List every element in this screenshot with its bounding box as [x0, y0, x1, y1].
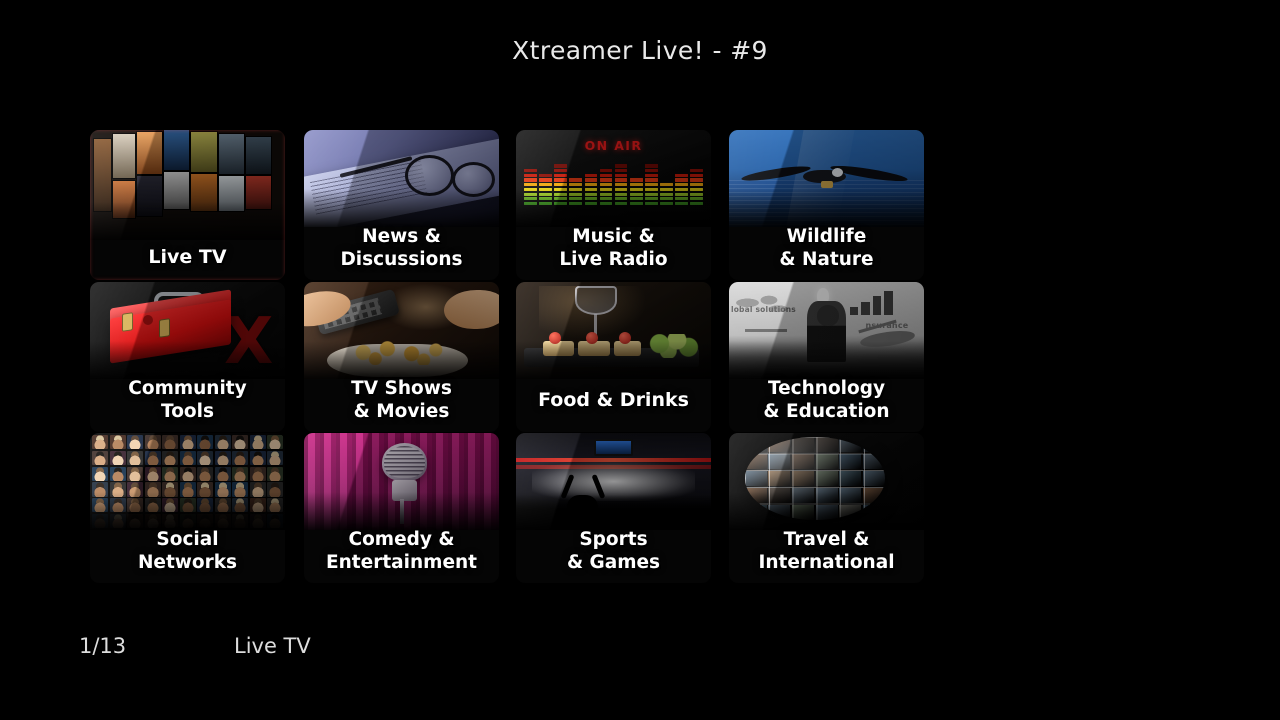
- tile-label: Technology& Education: [729, 370, 924, 432]
- tile-news[interactable]: News &Discussions: [304, 130, 499, 280]
- page-title: Xtreamer Live! - #9: [512, 36, 768, 65]
- globe-graphic: [745, 437, 885, 520]
- tile-art-stadium-crowd: [516, 433, 711, 530]
- tile-art-newspaper-glasses: [304, 130, 499, 227]
- tile-sports[interactable]: Sports& Games: [516, 433, 711, 583]
- tile-art-canapes-wine: [516, 282, 711, 379]
- tile-comedy[interactable]: Comedy &Entertainment: [304, 433, 499, 583]
- avatar-grid: [90, 433, 285, 530]
- tile-food[interactable]: Food & Drinks: [516, 282, 711, 432]
- tile-label: CommunityTools: [90, 370, 285, 432]
- channel-grid: Live TV News &Discussions: [90, 130, 1090, 592]
- tile-art-microphone-curtain: [304, 433, 499, 530]
- status-page-index: 1/13: [79, 634, 126, 658]
- tile-label: Sports& Games: [516, 521, 711, 583]
- equalizer-graphic: [524, 153, 703, 205]
- on-air-badge: ON AIR: [516, 138, 711, 153]
- x-logo-icon: X: [224, 305, 273, 379]
- tile-music[interactable]: ON AIR: [516, 130, 711, 280]
- tile-label: Live TV: [90, 236, 285, 280]
- tile-label: TV Shows& Movies: [304, 370, 499, 432]
- status-current-item: Live TV: [234, 634, 311, 658]
- grid-row: Live TV News &Discussions: [90, 130, 1090, 280]
- tile-art-video-wall: [90, 130, 285, 240]
- tile-label: News &Discussions: [304, 218, 499, 280]
- tile-art-on-air-equalizer: ON AIR: [516, 130, 711, 227]
- tile-label: Travel &International: [729, 521, 924, 583]
- tile-art-avatar-mosaic: [90, 433, 285, 530]
- tile-label: SocialNetworks: [90, 521, 285, 583]
- whiteboard-word-left: lobal solutions: [731, 305, 796, 314]
- tile-live-tv[interactable]: Live TV: [90, 130, 285, 280]
- tile-label: Comedy &Entertainment: [304, 521, 499, 583]
- tile-label: Music &Live Radio: [516, 218, 711, 280]
- grid-row: SocialNetworks Comedy &Entertainment: [90, 433, 1090, 583]
- tile-art-eagle-water: [729, 130, 924, 227]
- tile-label: Wildlife& Nature: [729, 218, 924, 280]
- tile-art-red-toolbox: X: [90, 282, 285, 379]
- tile-label: Food & Drinks: [516, 370, 711, 432]
- status-bar: 1/13 Live TV: [0, 634, 1280, 668]
- tile-tv-shows[interactable]: TV Shows& Movies: [304, 282, 499, 432]
- tile-art-man-whiteboard: lobal solutions nsurance: [729, 282, 924, 379]
- tile-travel[interactable]: Travel &International: [729, 433, 924, 583]
- tile-art-photo-globe: [729, 433, 924, 530]
- grid-row: X CommunityTools: [90, 282, 1090, 432]
- tile-art-remote-popcorn: [304, 282, 499, 379]
- tile-wildlife[interactable]: Wildlife& Nature: [729, 130, 924, 280]
- whiteboard-word-right: nsurance: [865, 321, 908, 330]
- tile-technology[interactable]: lobal solutions nsurance Technology& Edu…: [729, 282, 924, 432]
- header-bar: Xtreamer Live! - #9: [0, 0, 1280, 100]
- app-screen: Xtreamer Live! - #9: [0, 0, 1280, 720]
- tile-community-tools[interactable]: X CommunityTools: [90, 282, 285, 432]
- tile-social-networks[interactable]: SocialNetworks: [90, 433, 285, 583]
